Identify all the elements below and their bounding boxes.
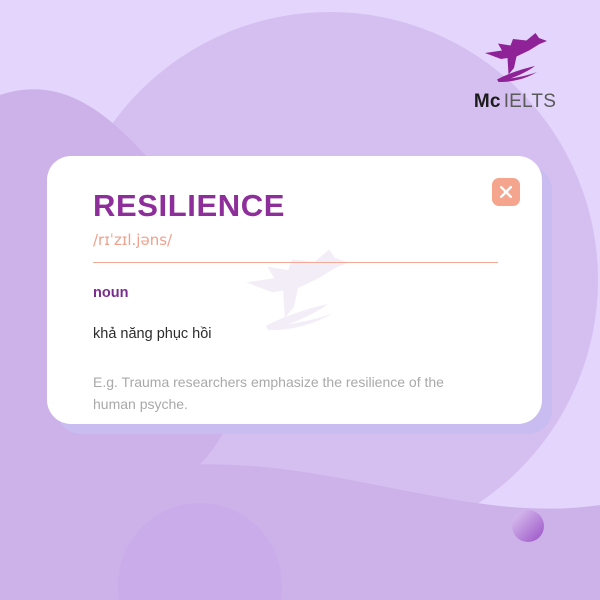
word-example-sentence: E.g. Trauma researchers emphasize the re… (93, 372, 483, 415)
accent-dot (512, 510, 544, 542)
card-divider (93, 262, 498, 263)
word-meaning: khả năng phục hồi (93, 325, 502, 344)
word-title: RESILIENCE (93, 190, 502, 223)
card-content: RESILIENCE /rɪˈzɪl.jəns/ noun khả năng p… (93, 190, 502, 415)
part-of-speech-label: noun (93, 285, 502, 301)
brand-logo: McIELTS (460, 28, 570, 111)
vocabulary-card: RESILIENCE /rɪˈzɪl.jəns/ noun khả năng p… (47, 156, 542, 424)
brand-name-mc: Mc (474, 91, 501, 112)
brand-name-ielts: IELTS (504, 91, 556, 112)
brand-logo-text: McIELTS (474, 92, 556, 111)
hummingbird-icon (477, 28, 553, 86)
word-phonetic: /rɪˈzɪl.jəns/ (93, 232, 502, 249)
